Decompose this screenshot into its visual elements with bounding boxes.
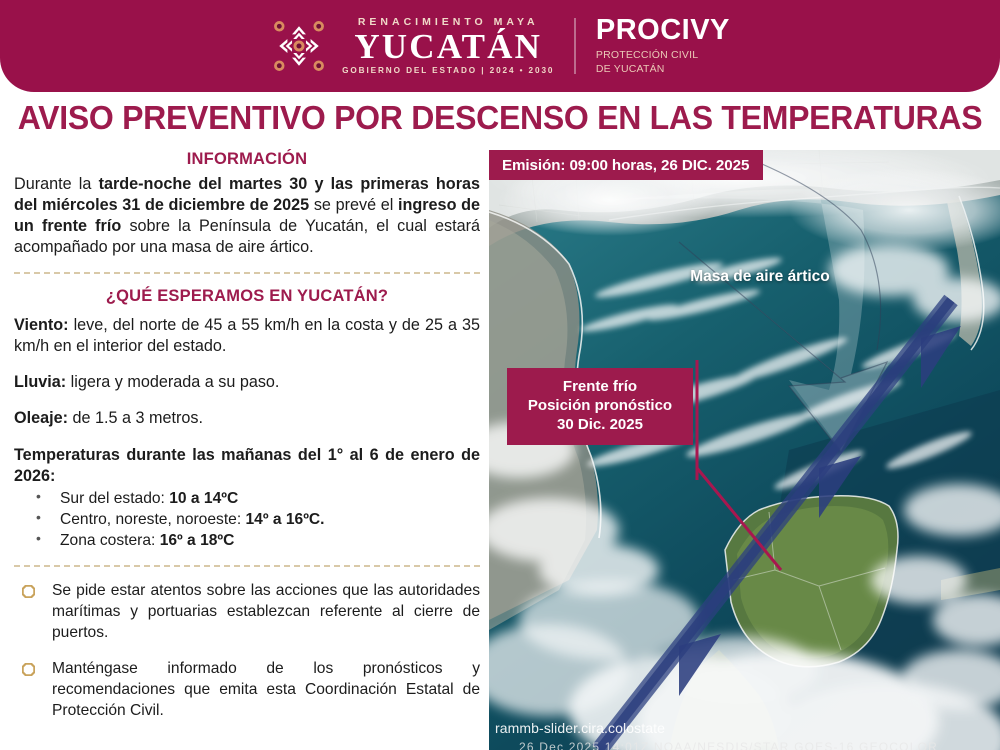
satellite-map-panel[interactable]: Emisión: 09:00 horas, 26 DIC. 2025 Masa … bbox=[489, 150, 1000, 750]
divider-1 bbox=[14, 272, 480, 274]
brand-wordmark: RENACIMIENTO MAYA YUCATÁN GOBIERNO DEL E… bbox=[342, 17, 554, 76]
expect-item-2: Lluvia: ligera y moderada a su paso. bbox=[14, 372, 480, 393]
gold-ring-bullet-icon bbox=[22, 663, 35, 676]
recommendations-list: Se pide estar atentos sobre las acciones… bbox=[14, 581, 480, 721]
informacion-heading: INFORMACIÓN bbox=[14, 150, 480, 169]
page-title: AVISO PREVENTIVO POR DESCENSO EN LAS TEM… bbox=[15, 99, 985, 137]
expect-item-value: leve, del norte de 45 a 55 km/h en la co… bbox=[14, 316, 480, 355]
advisory-infographic: RENACIMIENTO MAYA YUCATÁN GOBIERNO DEL E… bbox=[0, 0, 1000, 750]
plain-text: se prevé el bbox=[309, 196, 398, 214]
expect-item-list: Viento: leve, del norte de 45 a 55 km/h … bbox=[14, 315, 480, 429]
expect-item-label: Lluvia: bbox=[14, 373, 66, 391]
temperature-range: 14º a 16ºC. bbox=[246, 511, 325, 528]
recommendation-item-2: Manténgase informado de los pronósticos … bbox=[14, 659, 480, 721]
front-line-1: Frente frío bbox=[513, 377, 687, 396]
plain-text: Durante la bbox=[14, 175, 99, 193]
emission-banner: Emisión: 09:00 horas, 26 DIC. 2025 bbox=[489, 150, 763, 180]
temperature-range: 10 a 14ºC bbox=[169, 490, 238, 507]
temperature-item-3: Zona costera: 16º a 18ºC bbox=[14, 530, 480, 551]
temperature-item-1: Sur del estado: 10 a 14ºC bbox=[14, 488, 480, 509]
recommendation-item-1: Se pide estar atentos sobre las acciones… bbox=[14, 581, 480, 643]
renacimiento-label: RENACIMIENTO MAYA bbox=[358, 17, 539, 28]
government-label: GOBIERNO DEL ESTADO | 2024 • 2030 bbox=[342, 67, 554, 75]
header-divider bbox=[574, 18, 576, 74]
informacion-paragraph: Durante la tarde-noche del martes 30 y l… bbox=[14, 174, 480, 258]
expect-item-3: Oleaje: de 1.5 a 3 metros. bbox=[14, 408, 480, 429]
mayan-emblem-icon bbox=[270, 17, 328, 75]
temperature-list: Sur del estado: 10 a 14ºCCentro, noreste… bbox=[14, 488, 480, 552]
air-mass-label: Masa de aire ártico bbox=[685, 268, 835, 287]
procivy-subtitle-line2: DE YUCATÁN bbox=[596, 63, 730, 76]
recommendation-text: Se pide estar atentos sobre las acciones… bbox=[52, 581, 480, 643]
front-line-2: Posición pronóstico bbox=[513, 396, 687, 415]
imagery-credit-secondary: 26 Dec 2025 14:01Z NOAA/NESDIS/STAR GOES… bbox=[519, 740, 938, 750]
expectativas-heading: ¿QUÉ ESPERAMOS EN YUCATÁN? bbox=[14, 287, 480, 306]
procivy-subtitle-line1: PROTECCIÓN CIVIL bbox=[596, 49, 730, 62]
gold-ring-bullet-icon bbox=[22, 585, 35, 598]
temperature-heading: Temperaturas durante las mañanas del 1° … bbox=[14, 445, 480, 487]
temperature-region: Sur del estado: bbox=[60, 490, 169, 507]
yucatan-wordmark: YUCATÁN bbox=[354, 29, 542, 64]
recommendation-text: Manténgase informado de los pronósticos … bbox=[52, 659, 480, 721]
expect-item-label: Viento: bbox=[14, 316, 69, 334]
front-line-3: 30 Dic. 2025 bbox=[513, 415, 687, 434]
imagery-credit: rammb-slider.cira.colostate bbox=[495, 720, 665, 736]
procivy-brand: PROCIVY PROTECCIÓN CIVIL DE YUCATÁN bbox=[596, 16, 730, 75]
temperature-region: Zona costera: bbox=[60, 532, 160, 549]
header-bar: RENACIMIENTO MAYA YUCATÁN GOBIERNO DEL E… bbox=[0, 0, 1000, 92]
yucatan-brand: RENACIMIENTO MAYA YUCATÁN GOBIERNO DEL E… bbox=[270, 17, 554, 76]
expect-item-value: ligera y moderada a su paso. bbox=[66, 373, 279, 391]
satellite-imagery bbox=[489, 150, 1000, 750]
air-mass-text: Masa de aire ártico bbox=[690, 268, 830, 285]
content-column: INFORMACIÓN Durante la tarde-noche del m… bbox=[0, 150, 488, 750]
expect-item-1: Viento: leve, del norte de 45 a 55 km/h … bbox=[14, 315, 480, 357]
temperature-item-2: Centro, noreste, noroeste: 14º a 16ºC. bbox=[14, 509, 480, 530]
cold-front-label-box: Frente frío Posición pronóstico 30 Dic. … bbox=[507, 368, 693, 445]
temperature-range: 16º a 18ºC bbox=[160, 532, 235, 549]
temperature-region: Centro, noreste, noroeste: bbox=[60, 511, 246, 528]
procivy-title: PROCIVY bbox=[596, 16, 730, 45]
divider-2 bbox=[14, 565, 480, 567]
expect-item-label: Oleaje: bbox=[14, 409, 68, 427]
expect-item-value: de 1.5 a 3 metros. bbox=[68, 409, 203, 427]
